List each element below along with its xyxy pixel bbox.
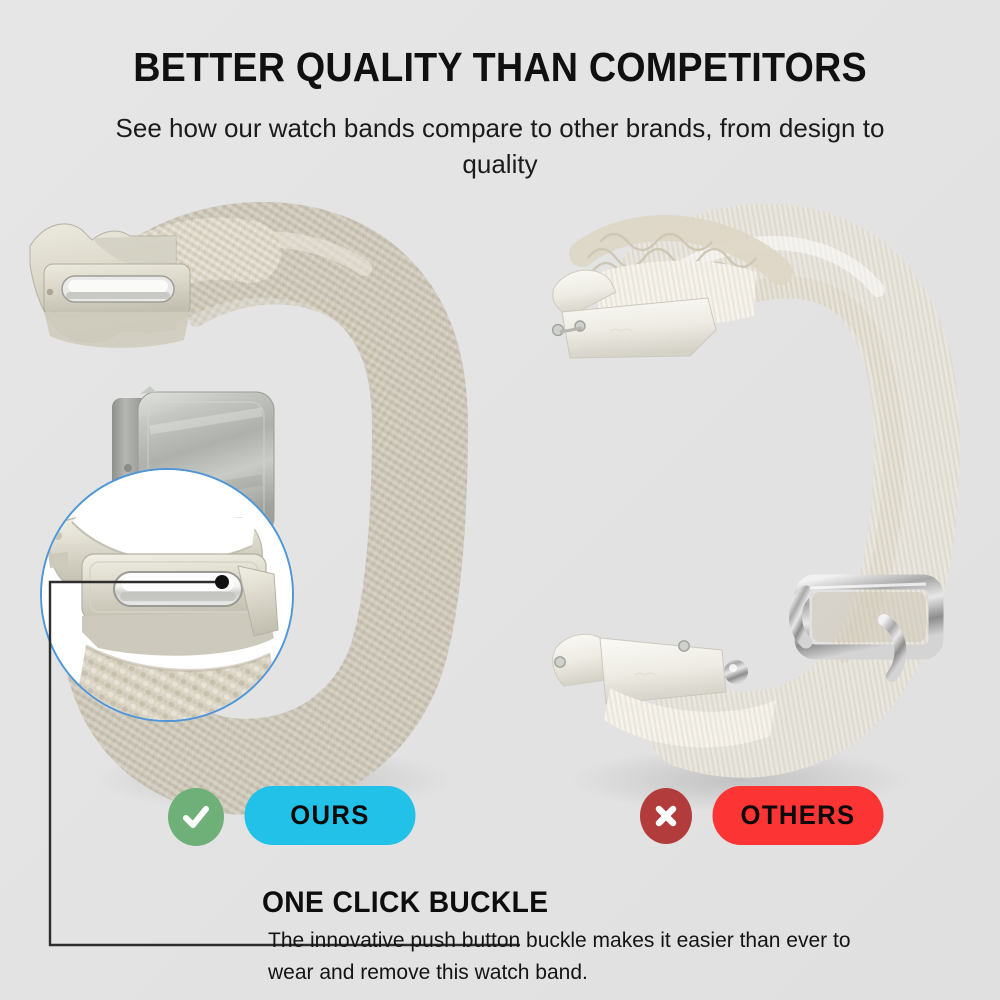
badge-label-others[interactable]: OTHERS [713,786,884,845]
page-title: BETTER QUALITY THAN COMPETITORS [40,44,960,91]
page-subtitle: See how our watch bands compare to other… [100,110,900,182]
svg-text:⌒⌒: ⌒⌒ [610,328,632,341]
infographic-canvas: BETTER QUALITY THAN COMPETITORS See how … [0,0,1000,1000]
svg-text:⌒⌒: ⌒⌒ [634,672,656,685]
check-glyph [180,801,212,833]
callout-title: ONE CLICK BUCKLE [262,886,548,920]
product-image-others: ⌒⌒ ⌒⌒ [553,228,936,812]
callout-body: The innovative push button buckle makes … [268,925,888,989]
x-glyph [651,801,681,831]
x-icon [640,788,692,844]
badge-label-ours[interactable]: OURS [245,786,416,845]
lug-connector-others-bottom: ⌒⌒ [553,634,776,747]
one-click-buckle-ours [30,224,190,348]
check-icon [168,788,224,846]
buckle-zoom-circle [40,468,294,722]
buckle-zoom-content [42,470,294,722]
